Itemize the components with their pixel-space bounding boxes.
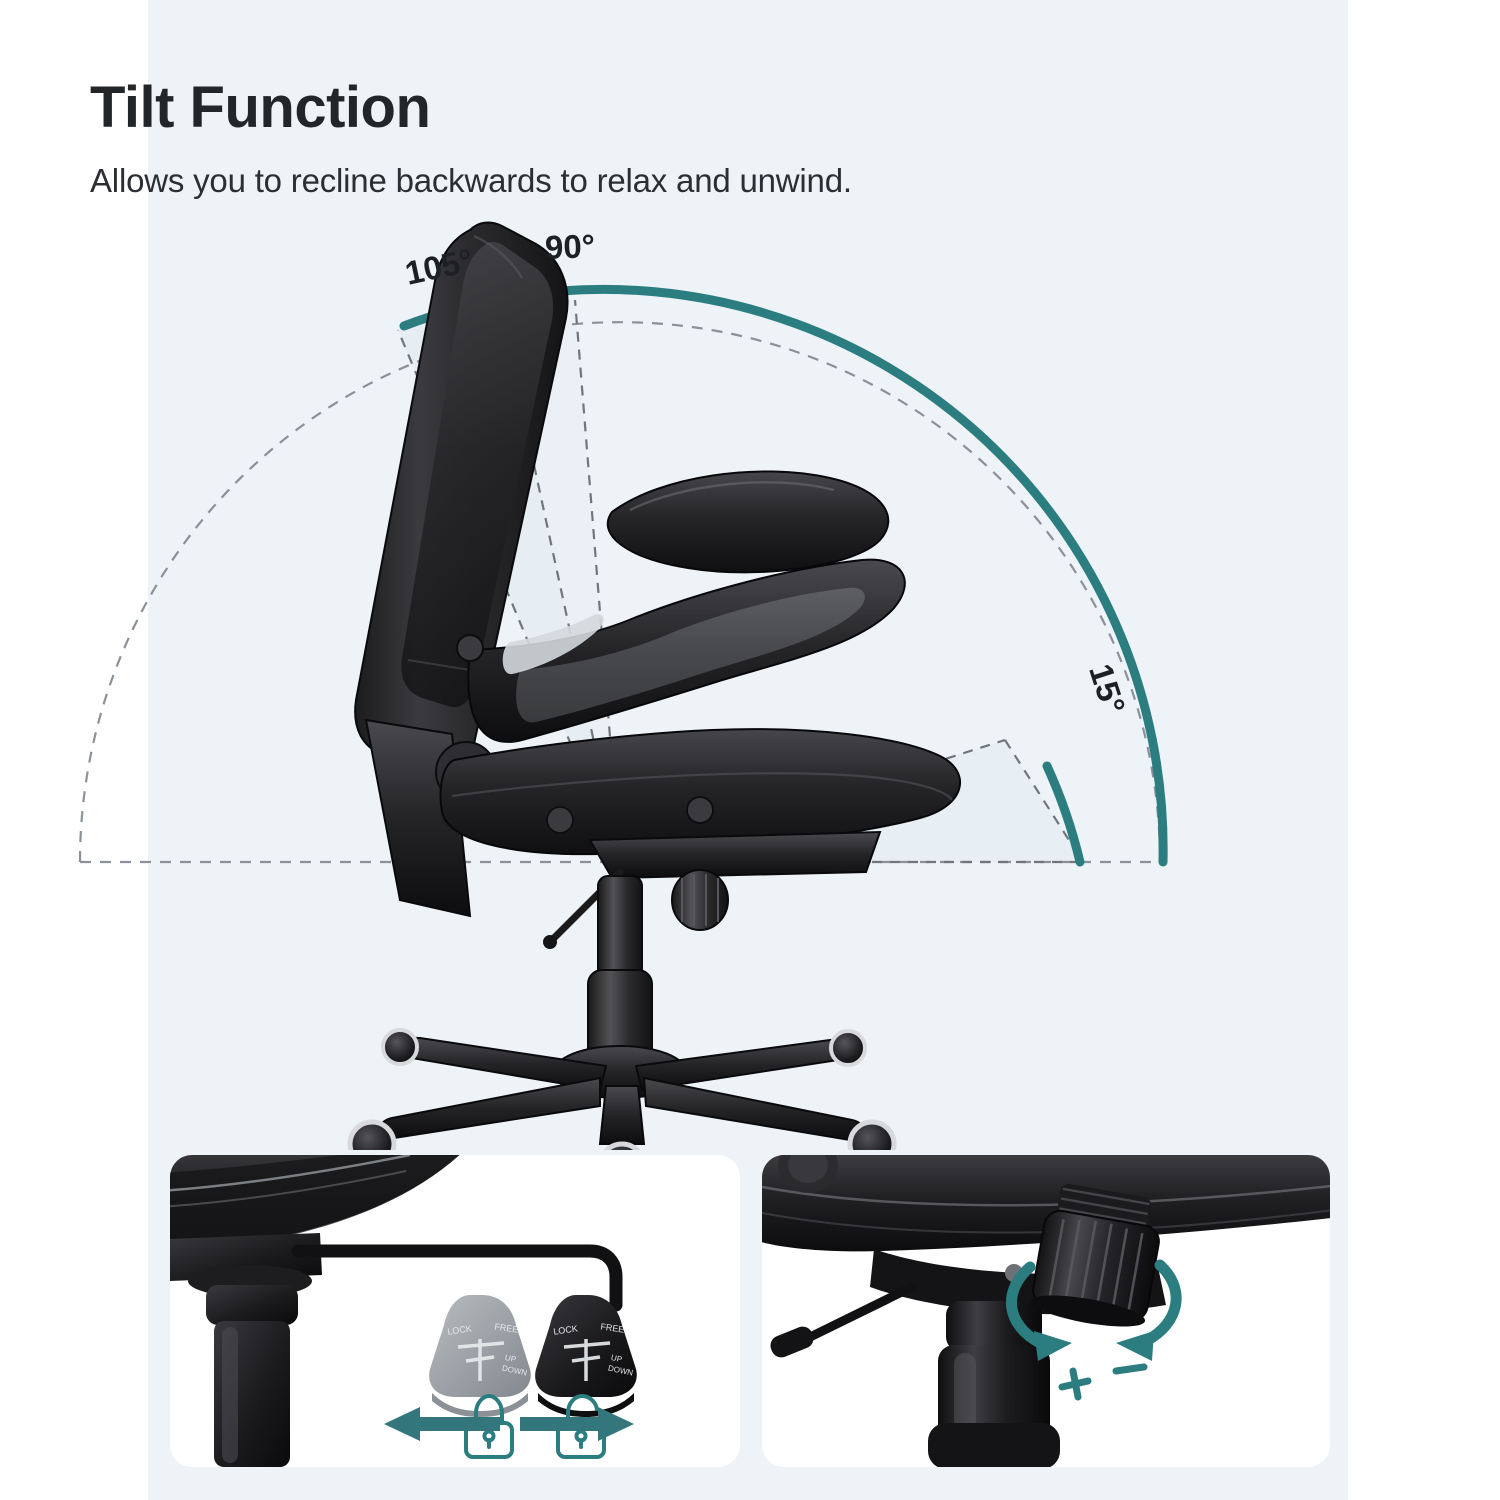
tension-knob-detail-panel (762, 1155, 1330, 1467)
caster-wheel (350, 1122, 394, 1150)
arrow-head-left (1116, 1331, 1154, 1361)
lever-handle (767, 1324, 816, 1361)
tilt-angle-diagram: 105° 90° 15° (0, 200, 1200, 1150)
office-chair-illustration (350, 223, 960, 1150)
minus-symbol (1116, 1367, 1144, 1371)
infographic-page: Tilt Function Allows you to recline back… (0, 0, 1500, 1500)
page-title: Tilt Function (90, 78, 1170, 139)
arrow-head-right (1034, 1331, 1072, 1361)
lock-direction-arrows (170, 1397, 740, 1457)
page-subtitle: Allows you to recline backwards to relax… (90, 161, 1170, 201)
tension-knob (672, 870, 728, 930)
tilt-lock-lever-detail-panel: LOCK FREE UP DOWN LOCK FREE UP DOWN (170, 1155, 740, 1467)
caster-wheel (383, 1030, 417, 1064)
header: Tilt Function Allows you to recline back… (90, 78, 1170, 200)
lever-tip (543, 935, 557, 949)
height-adjust-lever (802, 1287, 912, 1341)
cylinder-foot (928, 1423, 1060, 1467)
tension-knob-illustration (762, 1155, 1330, 1467)
chair-base (350, 1030, 894, 1150)
arrow-right-icon (520, 1407, 634, 1441)
plus-symbol (1062, 1371, 1088, 1397)
tilt-diagram-svg (0, 200, 1200, 1150)
arrow-left-icon (384, 1407, 500, 1441)
angle-label-90: 90° (544, 227, 595, 267)
tilt-mechanism-housing (590, 832, 880, 878)
cylinder-collar (946, 1301, 1042, 1351)
caster-wheel (831, 1031, 865, 1065)
caster-wheel (850, 1122, 894, 1150)
